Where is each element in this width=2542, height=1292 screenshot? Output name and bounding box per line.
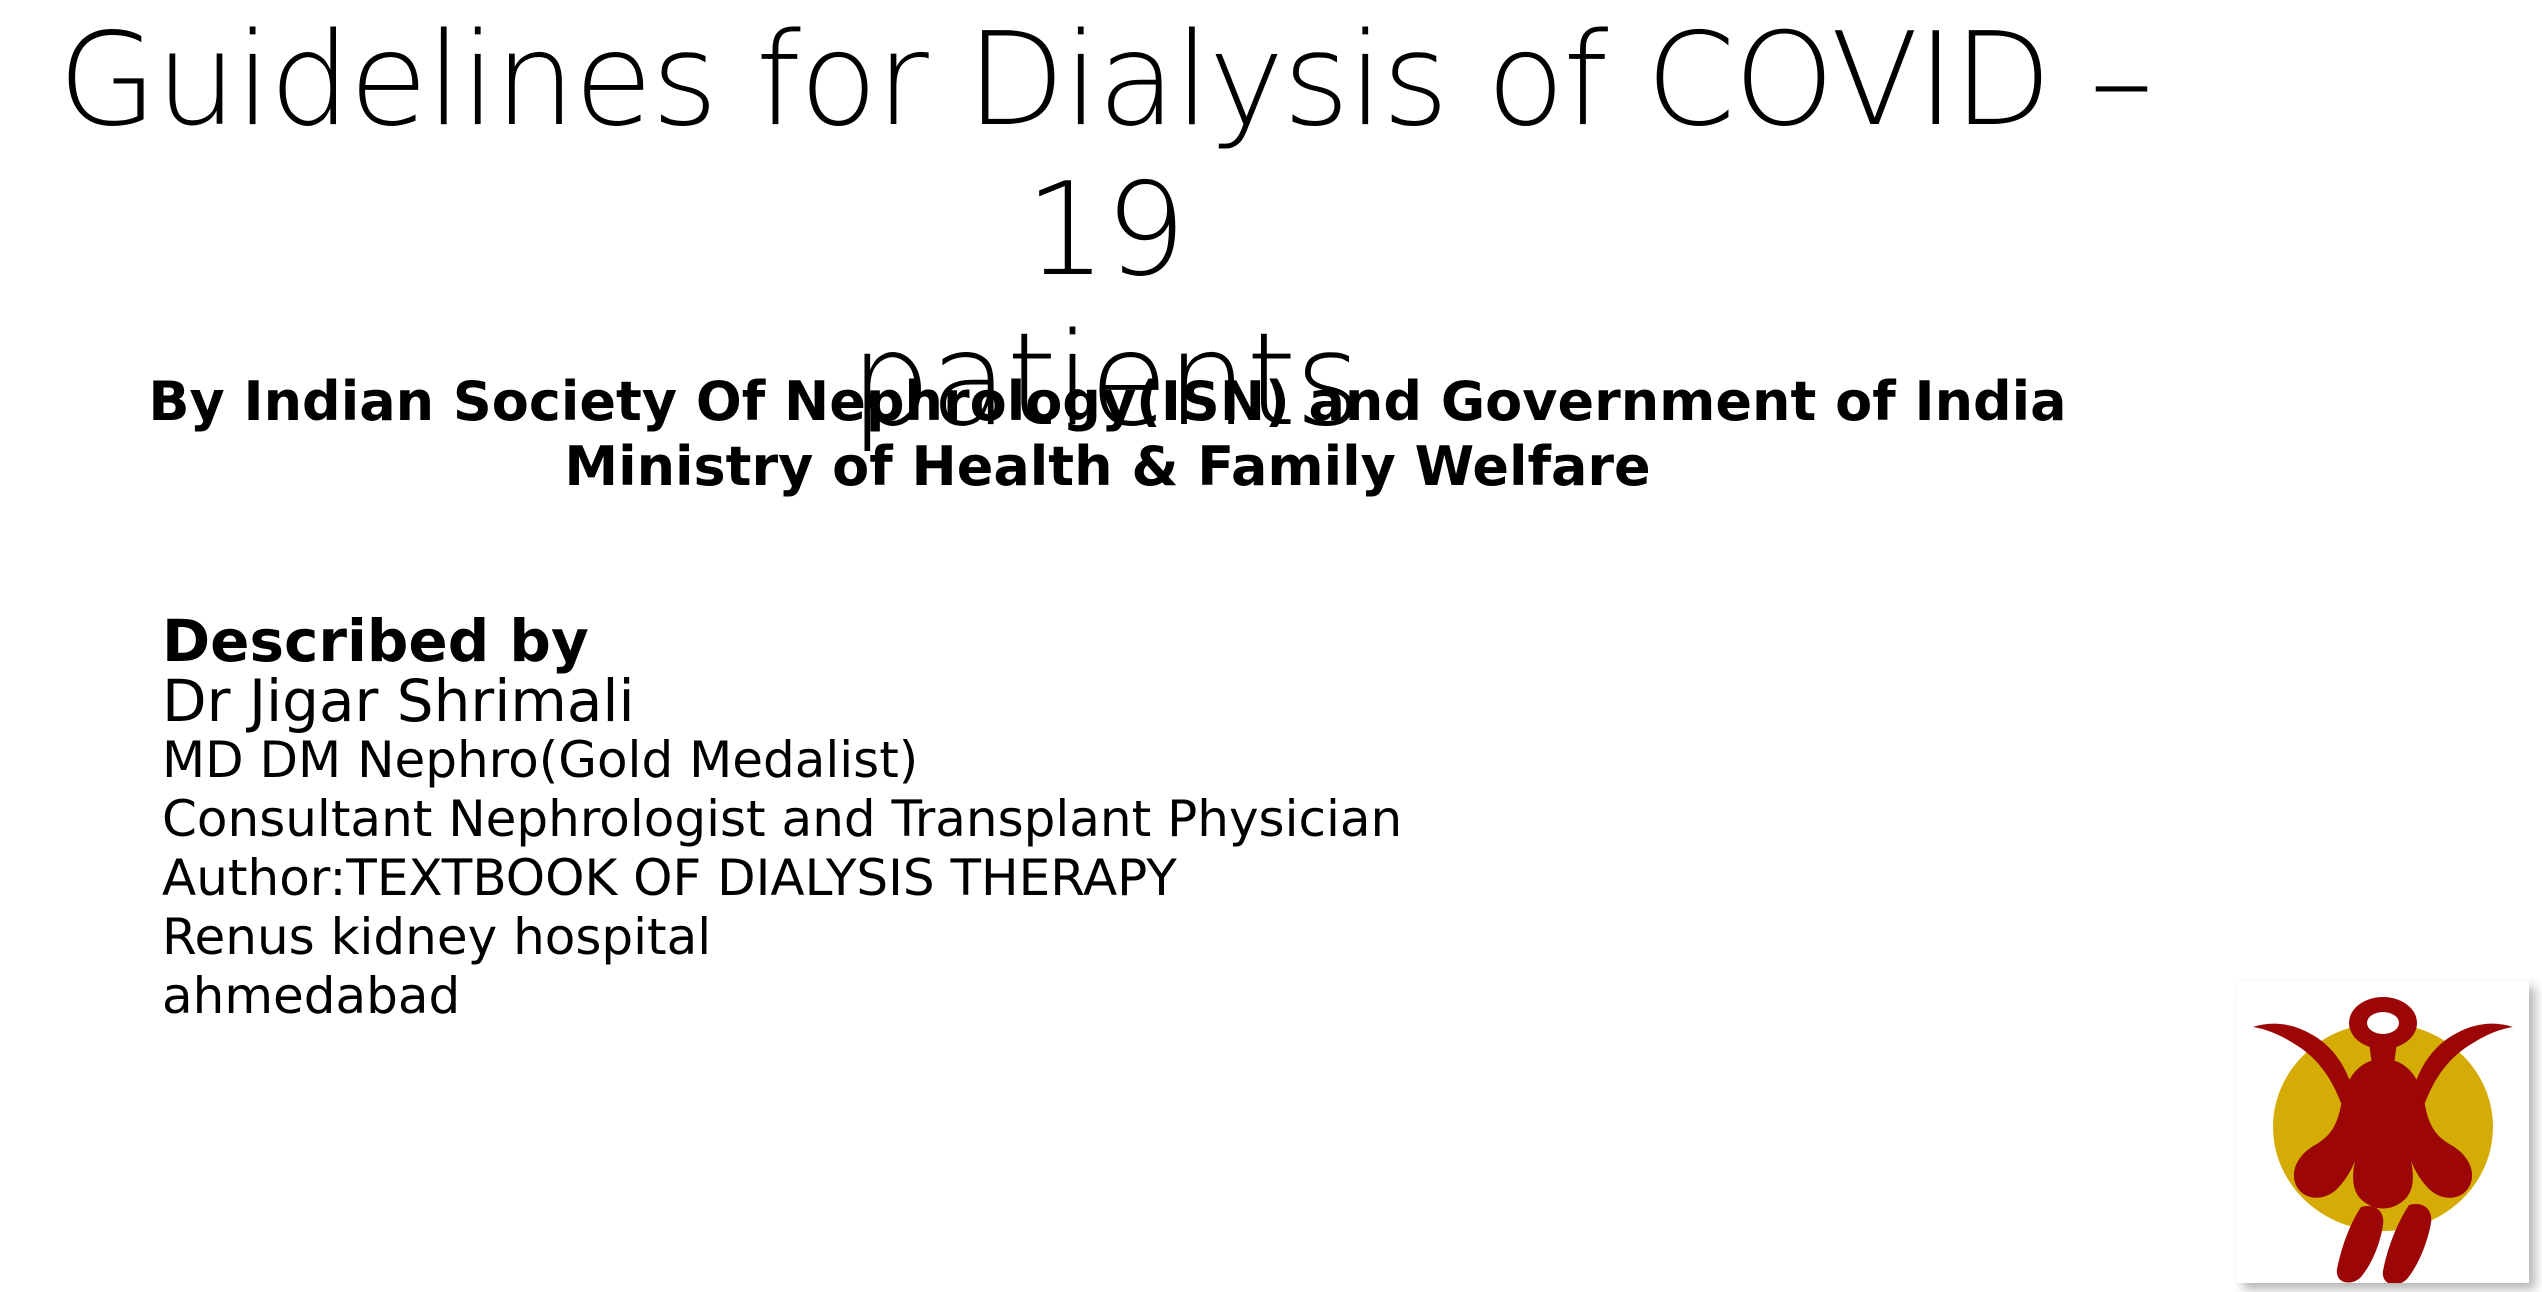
subtitle-line-2: Ministry of Health & Family Welfare [0,435,2215,500]
slide-canvas: Guidelines for Dialysis of COVID – 19 pa… [0,0,2542,1292]
logo-figure-neck [2369,1043,2397,1071]
presenter-credits: Described by Dr Jigar Shrimali MD DM Nep… [162,612,1862,1026]
body-line-city: ahmedabad [162,967,1862,1026]
body-line-qualification: MD DM Nephro(Gold Medalist) [162,731,1862,790]
subtitle-line-1: By Indian Society Of Nephrology(ISN) and… [0,370,2215,435]
title-line-1: Guidelines for Dialysis of COVID – 19 [0,6,2210,306]
renus-kidney-hospital-logo-icon [2237,981,2529,1283]
body-line-author: Author:TEXTBOOK OF DIALYSIS THERAPY [162,849,1862,908]
logo-image-card [2237,981,2529,1283]
body-line-designation: Consultant Nephrologist and Transplant P… [162,790,1862,849]
logo-figure-head-hole [2367,1012,2399,1034]
body-line-hospital: Renus kidney hospital [162,908,1862,967]
subtitle: By Indian Society Of Nephrology(ISN) and… [0,370,2215,500]
body-line-described-by: Described by [162,612,1862,672]
body-line-presenter-name: Dr Jigar Shrimali [162,672,1862,732]
